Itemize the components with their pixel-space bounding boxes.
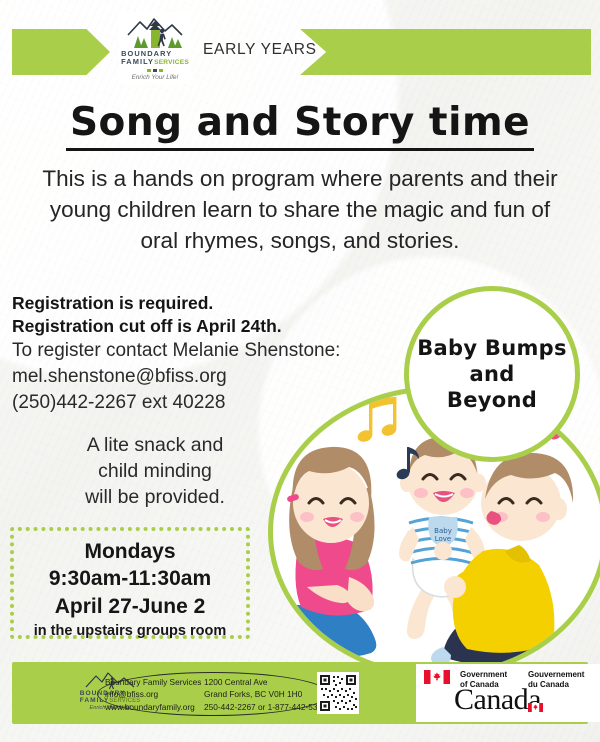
logo-name-services: SERVICES: [154, 59, 189, 66]
footer-email[interactable]: info@bfiss.org: [105, 688, 201, 700]
footer-contact-column-2: 1200 Central Ave Grand Forks, BC V0H 1H0…: [204, 676, 327, 713]
canada-wordmark-flag-icon: [528, 687, 543, 696]
canada-flag-icon: [424, 670, 450, 684]
schedule-day: Mondays: [14, 538, 246, 565]
bubble-line-3: Beyond: [417, 387, 567, 413]
schedule-box: Mondays 9:30am-11:30am April 27-June 2 i…: [10, 527, 250, 639]
mountain-trees-logo-icon: [124, 15, 186, 49]
logo-tagline: Enrich Your Life!: [132, 74, 179, 81]
footer-street-address: 1200 Central Ave: [204, 676, 327, 688]
music-note-yellow: [356, 397, 398, 444]
girl-figure: [286, 447, 376, 657]
snack-note: A lite snack and child minding will be p…: [40, 432, 270, 510]
footer-phone[interactable]: 250-442-2267 or 1-877-442-5355: [204, 701, 327, 713]
early-years-label: EARLY YEARS: [203, 41, 317, 59]
registration-contact-line: To register contact Melanie Shenstone:: [12, 338, 342, 364]
page-title: Song and Story time: [0, 100, 600, 151]
logo-name-line2: FAMILY: [121, 57, 154, 66]
gc-fr-line1: Gouvernement: [528, 670, 584, 679]
schedule-time: 9:30am-11:30am: [14, 565, 246, 593]
svg-text:Baby: Baby: [434, 527, 452, 535]
header-banner: BOUNDARY FAMILYSERVICES Enrich Your Life…: [0, 0, 600, 94]
page-title-text: Song and Story time: [66, 100, 534, 151]
registration-required-line: Registration is required.: [12, 292, 342, 315]
boundary-family-services-logo: BOUNDARY FAMILYSERVICES Enrich Your Life…: [119, 12, 191, 84]
footer-website[interactable]: www.boundaryfamily.org: [105, 701, 201, 713]
gc-en-line1: Government: [460, 670, 507, 679]
logo-dots-decoration: [147, 69, 163, 72]
baby-bumps-bubble: Baby Bumps and Beyond: [404, 286, 580, 462]
footer-city-postal: Grand Forks, BC V0H 1H0: [204, 688, 327, 700]
bubble-text: Baby Bumps and Beyond: [417, 335, 567, 413]
footer-banner: BOUNDARY FAMILYSERVICES Enrich Your Life…: [12, 662, 588, 724]
bubble-line-1: Baby Bumps: [417, 335, 567, 361]
schedule-dates: April 27-June 2: [14, 593, 246, 621]
qr-code[interactable]: [317, 672, 359, 714]
green-band-right: [300, 29, 591, 75]
snack-line-3: will be provided.: [40, 484, 270, 510]
government-of-canada-logo: Government of Canada Gouvernement du Can…: [416, 664, 600, 722]
intro-paragraph: This is a hands on program where parents…: [36, 163, 564, 256]
registration-email[interactable]: mel.shenstone@bfiss.org: [12, 364, 342, 390]
poster-canvas: BOUNDARY FAMILYSERVICES Enrich Your Life…: [0, 0, 600, 742]
green-arrow-left: [12, 29, 110, 75]
logo-wordmark: BOUNDARY FAMILYSERVICES: [121, 50, 189, 67]
bubble-line-2: and: [417, 361, 567, 387]
snack-line-2: child minding: [40, 458, 270, 484]
footer-contact-column-1: Boundary Family Services info@bfiss.org …: [105, 676, 201, 713]
snack-line-1: A lite snack and: [40, 432, 270, 458]
footer-org-name: Boundary Family Services: [105, 676, 201, 688]
registration-cutoff-line: Registration cut off is April 24th.: [12, 315, 342, 338]
schedule-location: in the upstairs groups room: [14, 621, 246, 641]
svg-text:Love: Love: [435, 535, 452, 543]
canada-wordmark: Canada: [454, 684, 541, 716]
